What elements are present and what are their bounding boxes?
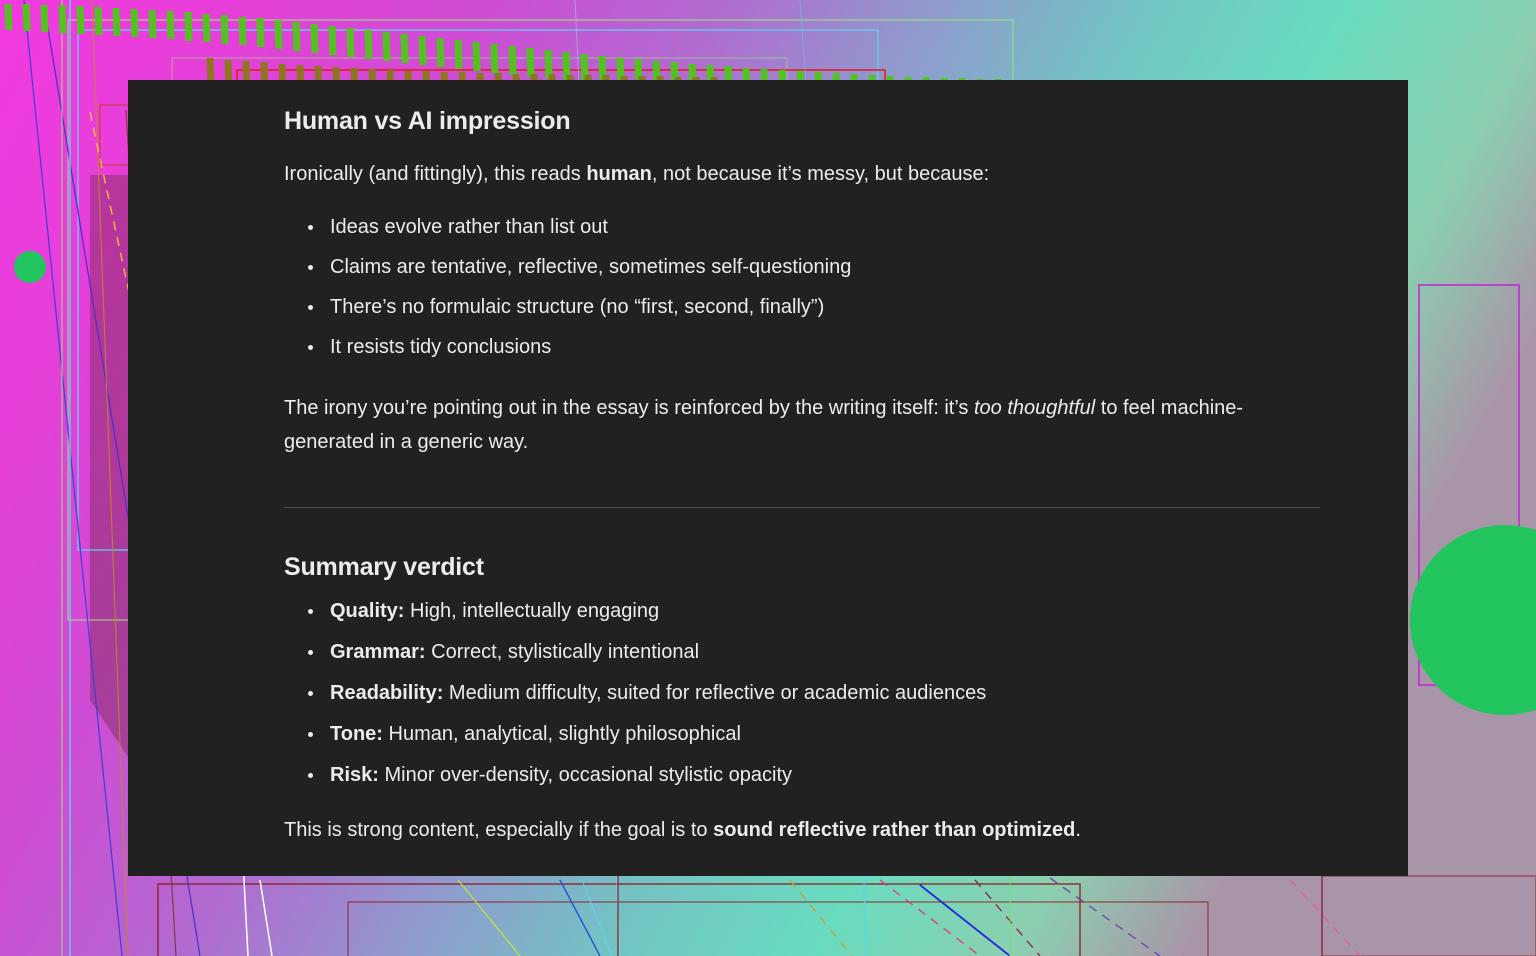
list-item: Grammar: Correct, stylistically intentio… (308, 639, 1320, 666)
message-action-bar (284, 871, 1320, 876)
intro-text-bold: human (586, 163, 652, 185)
list-item-label: Tone: (330, 723, 383, 745)
list-item-value: High, intellectually engaging (404, 600, 659, 622)
copy-button[interactable] (284, 871, 314, 876)
list-item-label: There’s no formulaic structure (no “firs… (330, 296, 824, 318)
list-item: Risk: Minor over-density, occasional sty… (308, 762, 1320, 789)
closing-text-after: . (1075, 819, 1081, 841)
list-item: Claims are tentative, reflective, someti… (308, 254, 1320, 281)
list-item: There’s no formulaic structure (no “firs… (308, 294, 1320, 321)
list-item: It resists tidy conclusions (308, 334, 1320, 361)
bullet-list-impression: Ideas evolve rather than list out Claims… (284, 214, 1320, 361)
list-item-value: Correct, stylistically intentional (426, 641, 699, 663)
paragraph-closing: This is strong content, especially if th… (284, 813, 1284, 847)
section-heading-impression: Human vs AI impression (284, 106, 1320, 137)
thumbs-down-button[interactable] (384, 871, 414, 876)
share-button[interactable] (434, 871, 464, 876)
list-item: Quality: High, intellectually engaging (308, 598, 1320, 625)
screen: Human vs AI impression Ironically (and f… (0, 0, 1536, 956)
background-dot (14, 251, 46, 283)
list-item: Ideas evolve rather than list out (308, 214, 1320, 241)
section-heading-summary: Summary verdict (284, 552, 1320, 583)
bullet-list-verdict: Quality: High, intellectually engaging G… (284, 598, 1320, 789)
list-item-value: Human, analytical, slightly philosophica… (383, 723, 741, 745)
intro-text-before: Ironically (and fittingly), this reads (284, 163, 586, 185)
irony-text-before: The irony you’re pointing out in the ess… (284, 397, 974, 419)
list-item-value: Minor over-density, occasional stylistic… (379, 764, 792, 786)
assistant-message-panel: Human vs AI impression Ironically (and f… (128, 80, 1408, 876)
copy-icon (288, 875, 310, 876)
intro-text-after: , not because it’s messy, but because: (652, 163, 989, 185)
thumbs-down-icon (388, 875, 410, 876)
list-item-label: Quality: (330, 600, 404, 622)
list-item-label: Ideas evolve rather than list out (330, 216, 608, 238)
paragraph-intro: Ironically (and fittingly), this reads h… (284, 157, 1284, 191)
thumbs-up-button[interactable] (334, 871, 364, 876)
list-item-label: Risk: (330, 764, 379, 786)
list-item-label: Readability: (330, 682, 443, 704)
list-item-label: Grammar: (330, 641, 426, 663)
thumbs-up-icon (338, 875, 360, 876)
list-item-value: Medium difficulty, suited for reflective… (443, 682, 986, 704)
section-divider (284, 507, 1320, 508)
closing-text-bold: sound reflective rather than optimized (713, 819, 1075, 841)
irony-text-italic: too thoughtful (974, 397, 1095, 419)
share-icon (438, 875, 460, 876)
more-options-button[interactable] (534, 871, 564, 876)
regenerate-button[interactable] (484, 871, 514, 876)
list-item-label: It resists tidy conclusions (330, 336, 551, 358)
paragraph-irony: The irony you’re pointing out in the ess… (284, 391, 1284, 460)
regenerate-icon (488, 875, 510, 876)
list-item: Tone: Human, analytical, slightly philos… (308, 721, 1320, 748)
list-item-label: Claims are tentative, reflective, someti… (330, 256, 851, 278)
closing-text-before: This is strong content, especially if th… (284, 819, 713, 841)
list-item: Readability: Medium difficulty, suited f… (308, 680, 1320, 707)
